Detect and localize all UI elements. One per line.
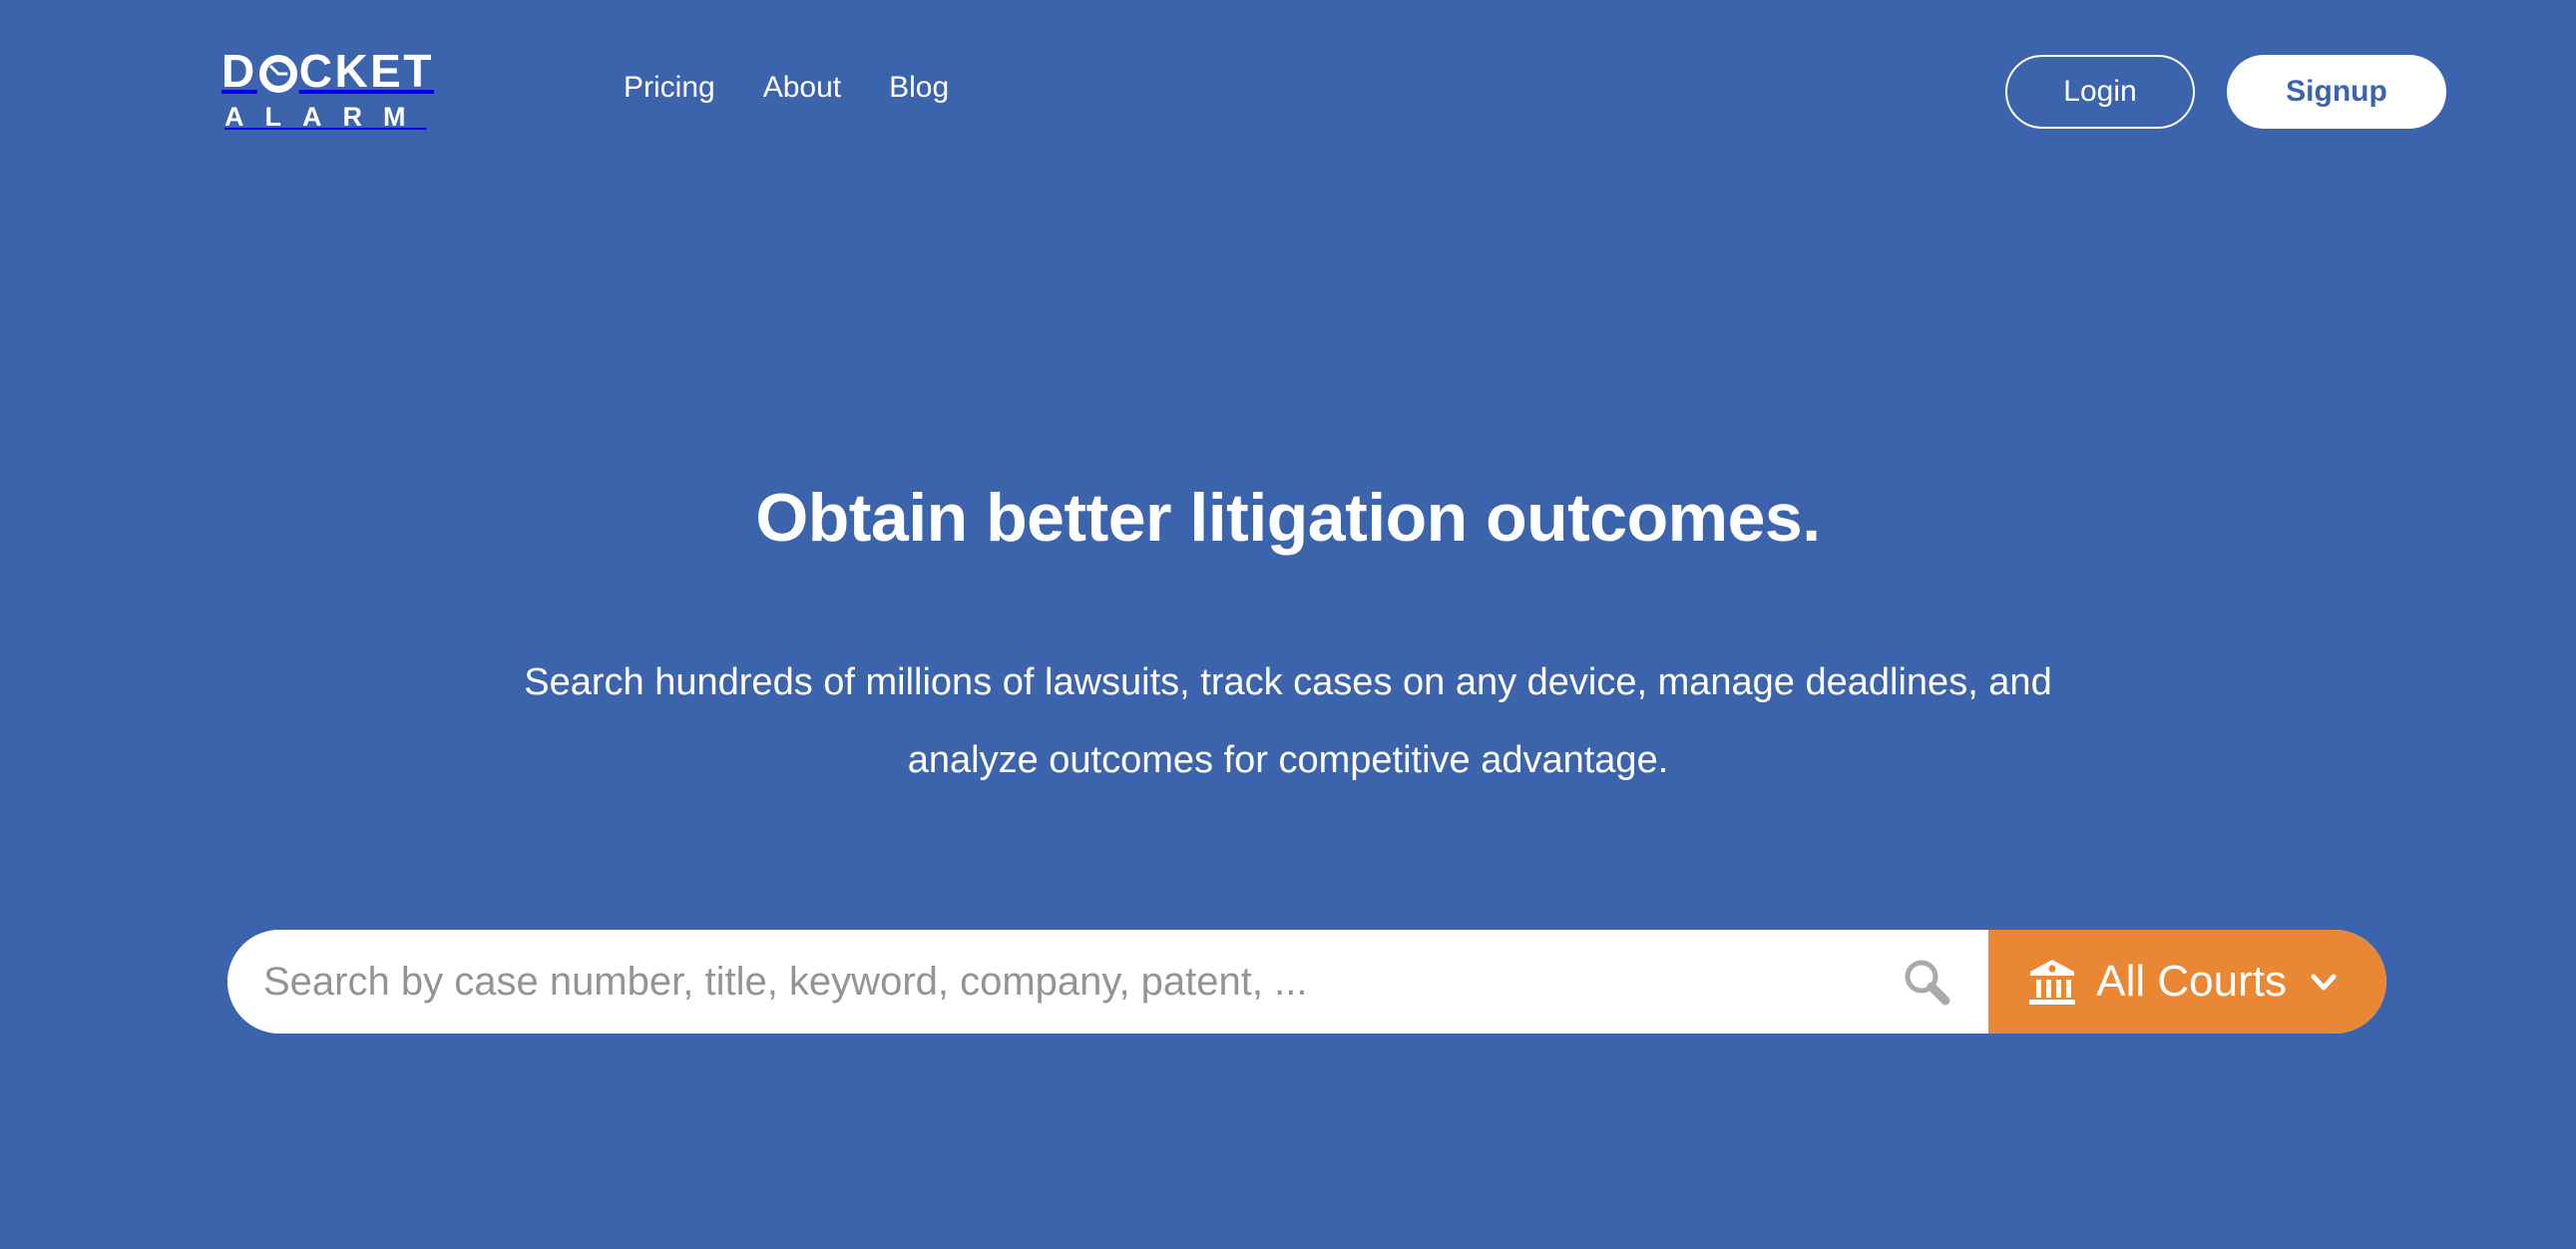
search-icon <box>1899 954 1954 1010</box>
search-submit-button[interactable] <box>1881 930 1972 1034</box>
hero-subtitle: Search hundreds of millions of lawsuits,… <box>480 643 2096 799</box>
hero-subtitle-line1: Search hundreds of millions of lawsuits,… <box>524 661 1795 703</box>
search-field-wrap <box>227 930 1988 1034</box>
courts-dropdown-label: All Courts <box>2096 956 2287 1008</box>
search-bar: All Courts <box>227 930 2386 1034</box>
chevron-down-icon <box>2305 963 2343 1001</box>
courthouse-icon <box>2026 956 2078 1008</box>
search-input[interactable] <box>263 958 1881 1006</box>
page-root: D CKET ALARM Pricing About Blog Login Si… <box>0 0 2576 1249</box>
hero-section: Obtain better litigation outcomes. Searc… <box>0 0 2576 1249</box>
hero-title: Obtain better litigation outcomes. <box>0 477 2576 559</box>
courts-dropdown-button[interactable]: All Courts <box>1988 930 2386 1034</box>
